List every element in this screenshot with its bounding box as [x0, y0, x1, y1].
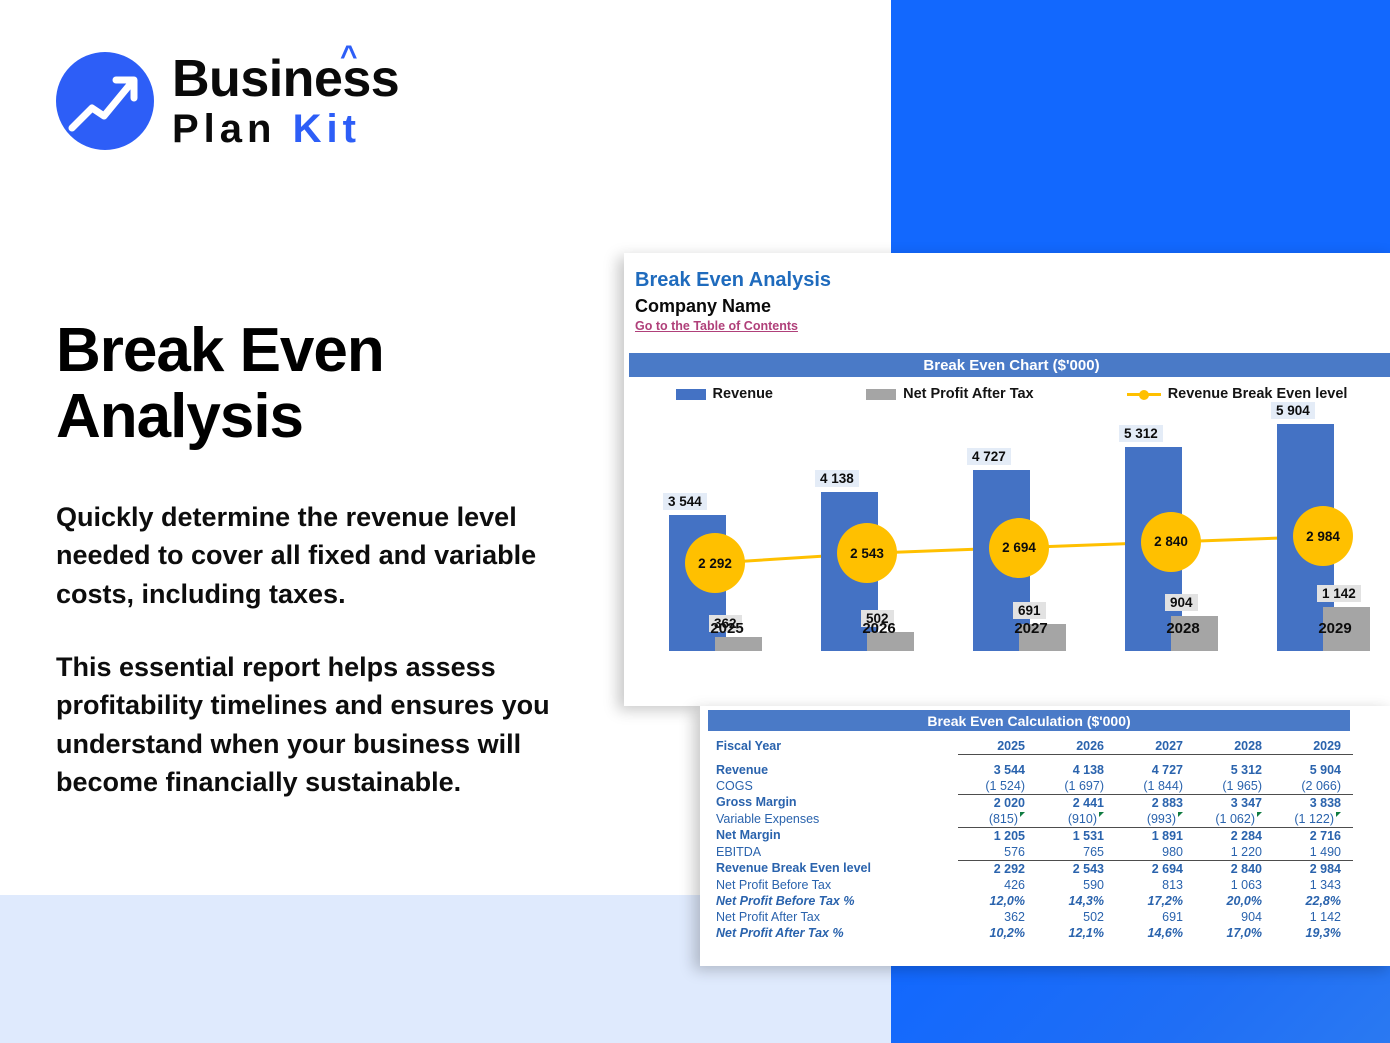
table-cell: (1 697) [1037, 778, 1116, 795]
intro-paragraph-1: Quickly determine the revenue level need… [56, 498, 556, 613]
legend-label-npat: Net Profit After Tax [903, 386, 1034, 402]
table-cell: 2 020 [958, 794, 1037, 811]
table-cell: 1 891 [1116, 827, 1195, 844]
data-label-revenue: 5 904 [1271, 402, 1315, 419]
table-title-bar: Break Even Calculation ($'000) [708, 710, 1350, 731]
table-cell: 1 205 [958, 827, 1037, 844]
background-blue-bottom-block [891, 966, 1390, 1043]
legend-swatch-breakeven-line-icon [1127, 389, 1161, 400]
cell-warning-triangle-icon [1336, 812, 1341, 817]
break-even-calculation-panel: Break Even Calculation ($'000) Fiscal Ye… [700, 706, 1390, 966]
table-column-header: 2028 [1195, 738, 1274, 755]
cell-warning-triangle-icon [1257, 812, 1262, 817]
table-cell: 14,3% [1037, 893, 1116, 909]
table-cell: 1 142 [1274, 909, 1353, 925]
table-row-label: EBITDA [708, 844, 958, 861]
table-row-label: Revenue Break Even level [708, 860, 958, 877]
cell-warning-triangle-icon [1178, 812, 1183, 817]
brand-kit-text: Kit [293, 107, 361, 151]
table-cell: 4 727 [1116, 762, 1195, 778]
table-cell: 17,0% [1195, 925, 1274, 941]
table-row: Gross Margin2 0202 4412 8833 3473 838 [708, 794, 1353, 811]
chart-x-axis-label: 2025 [657, 620, 797, 637]
table-row-label: Revenue [708, 762, 958, 778]
table-cell: 1 063 [1195, 877, 1274, 893]
table-row-label: Net Profit Before Tax % [708, 893, 958, 909]
table-row-label: Gross Margin [708, 794, 958, 811]
table-cell: 5 904 [1274, 762, 1353, 778]
page-title: Break EvenAnalysis [56, 318, 556, 449]
table-cell: 3 544 [958, 762, 1037, 778]
break-even-data-point[interactable]: 2 694 [989, 518, 1049, 578]
table-cell: (1 965) [1195, 778, 1274, 795]
table-row: Revenue Break Even level2 2922 5432 6942… [708, 860, 1353, 877]
chart-title-bar: Break Even Chart ($'000) [629, 353, 1390, 377]
table-row-label: Net Margin [708, 827, 958, 844]
data-label-revenue: 4 138 [815, 470, 859, 487]
data-label-revenue: 3 544 [663, 493, 707, 510]
table-cell: 4 138 [1037, 762, 1116, 778]
chart-x-axis-label: 2028 [1113, 620, 1253, 637]
table-row: Net Profit After Tax %10,2%12,1%14,6%17,… [708, 925, 1353, 941]
table-cell: 502 [1037, 909, 1116, 925]
table-cell: 2 441 [1037, 794, 1116, 811]
table-cell: (1 062) [1195, 811, 1274, 828]
table-cell: 980 [1116, 844, 1195, 861]
legend-label-breakeven: Revenue Break Even level [1168, 386, 1348, 402]
table-cell: 2 840 [1195, 860, 1274, 877]
table-header-row: Fiscal Year20252026202720282029 [708, 738, 1353, 755]
table-cell: 362 [958, 909, 1037, 925]
table-cell: (1 524) [958, 778, 1037, 795]
table-cell: 2 543 [1037, 860, 1116, 877]
table-row-label: Net Profit After Tax [708, 909, 958, 925]
table-cell: 1 343 [1274, 877, 1353, 893]
table-cell: 813 [1116, 877, 1195, 893]
table-cell: (2 066) [1274, 778, 1353, 795]
table-cell: 1 220 [1195, 844, 1274, 861]
table-cell: 2 292 [958, 860, 1037, 877]
table-of-contents-link[interactable]: Go to the Table of Contents [635, 319, 798, 333]
table-cell: (910) [1037, 811, 1116, 828]
table-row-label: Net Profit Before Tax [708, 877, 958, 893]
break-even-data-point[interactable]: 2 292 [685, 533, 745, 593]
table-cell: 691 [1116, 909, 1195, 925]
legend-item-net-profit-after-tax[interactable]: Net Profit After Tax [866, 386, 1034, 402]
table-column-header: 2027 [1116, 738, 1195, 755]
table-column-header: 2029 [1274, 738, 1353, 755]
table-cell: (1 844) [1116, 778, 1195, 795]
data-label-net-profit-after-tax: 691 [1013, 602, 1046, 619]
chart-category-group: 3 5443622025 [657, 413, 797, 651]
table-cell: 1 531 [1037, 827, 1116, 844]
table-cell: 20,0% [1195, 893, 1274, 909]
table-cell: (1 122) [1274, 811, 1353, 828]
intro-paragraph-2: This essential report helps assess profi… [56, 648, 566, 801]
legend-swatch-npat-icon [866, 389, 896, 400]
table-cell: 17,2% [1116, 893, 1195, 909]
brand-name-secondary: Plan Kit [172, 109, 399, 149]
background-blue-top-block [891, 0, 1390, 255]
table-cell: 904 [1195, 909, 1274, 925]
table-cell: (993) [1116, 811, 1195, 828]
legend-swatch-revenue-icon [676, 389, 706, 400]
table-column-header: 2026 [1037, 738, 1116, 755]
table-row: Net Profit After Tax3625026919041 142 [708, 909, 1353, 925]
break-even-data-point[interactable]: 2 840 [1141, 512, 1201, 572]
table-cell: 1 490 [1274, 844, 1353, 861]
chart-x-axis-label: 2029 [1265, 620, 1390, 637]
data-label-net-profit-after-tax: 1 142 [1317, 585, 1361, 602]
table-row: EBITDA5767659801 2201 490 [708, 844, 1353, 861]
chart-plot-area: 3 54436220254 13850220264 72769120275 31… [629, 413, 1390, 706]
table-cell: 19,3% [1274, 925, 1353, 941]
legend-item-revenue[interactable]: Revenue [676, 386, 773, 402]
table-cell: 10,2% [958, 925, 1037, 941]
table-cell: 426 [958, 877, 1037, 893]
table-spacer-row [708, 755, 1353, 762]
table-cell: 2 984 [1274, 860, 1353, 877]
table-cell: 2 883 [1116, 794, 1195, 811]
table-column-header: 2025 [958, 738, 1037, 755]
break-even-chart-panel: Break Even Analysis Company Name Go to t… [624, 253, 1390, 706]
table-cell: 590 [1037, 877, 1116, 893]
table-cell: 765 [1037, 844, 1116, 861]
table-cell: 3 347 [1195, 794, 1274, 811]
worksheet-title: Break Even Analysis [635, 269, 831, 292]
table-cell: 2 694 [1116, 860, 1195, 877]
table-cell: 12,1% [1037, 925, 1116, 941]
chart-x-axis-label: 2026 [809, 620, 949, 637]
cell-warning-triangle-icon [1020, 812, 1025, 817]
table-cell: 2 716 [1274, 827, 1353, 844]
table-cell: 3 838 [1274, 794, 1353, 811]
data-label-revenue: 5 312 [1119, 425, 1163, 442]
table-row: COGS(1 524)(1 697)(1 844)(1 965)(2 066) [708, 778, 1353, 795]
table-cell: (815) [958, 811, 1037, 828]
table-cell: 22,8% [1274, 893, 1353, 909]
data-label-revenue: 4 727 [967, 448, 1011, 465]
company-name: Company Name [635, 296, 771, 317]
table-row: Net Profit Before Tax4265908131 0631 343 [708, 877, 1353, 893]
legend-label-revenue: Revenue [713, 386, 773, 402]
brand-circumflex-accent: ^ [340, 42, 357, 72]
chart-x-axis-label: 2027 [961, 620, 1101, 637]
brand-business-text: Business [172, 50, 399, 108]
brand-logo: Business ^ Plan Kit [56, 52, 399, 150]
brand-name-primary: Business ^ [172, 53, 399, 105]
table-cell: 5 312 [1195, 762, 1274, 778]
table-cell: 2 284 [1195, 827, 1274, 844]
cell-warning-triangle-icon [1099, 812, 1104, 817]
break-even-table: Fiscal Year20252026202720282029Revenue3 … [708, 738, 1353, 941]
table-row: Revenue3 5444 1384 7275 3125 904 [708, 762, 1353, 778]
table-row-label: Net Profit After Tax % [708, 925, 958, 941]
table-cell: 12,0% [958, 893, 1037, 909]
table-row-label: COGS [708, 778, 958, 795]
brand-plan-text: Plan [172, 107, 276, 151]
legend-item-break-even-level[interactable]: Revenue Break Even level [1127, 386, 1348, 402]
table-first-column-header: Fiscal Year [708, 738, 958, 755]
data-label-net-profit-after-tax: 904 [1165, 594, 1198, 611]
table-cell: 14,6% [1116, 925, 1195, 941]
table-row-label: Variable Expenses [708, 811, 958, 828]
table-row: Net Margin1 2051 5311 8912 2842 716 [708, 827, 1353, 844]
break-even-data-point[interactable]: 2 543 [837, 523, 897, 583]
growth-arrow-circle-icon [56, 52, 154, 150]
table-row: Net Profit Before Tax %12,0%14,3%17,2%20… [708, 893, 1353, 909]
table-row: Variable Expenses(815)(910)(993)(1 062)(… [708, 811, 1353, 828]
table-cell: 576 [958, 844, 1037, 861]
bar-net-profit-after-tax[interactable] [715, 637, 762, 651]
